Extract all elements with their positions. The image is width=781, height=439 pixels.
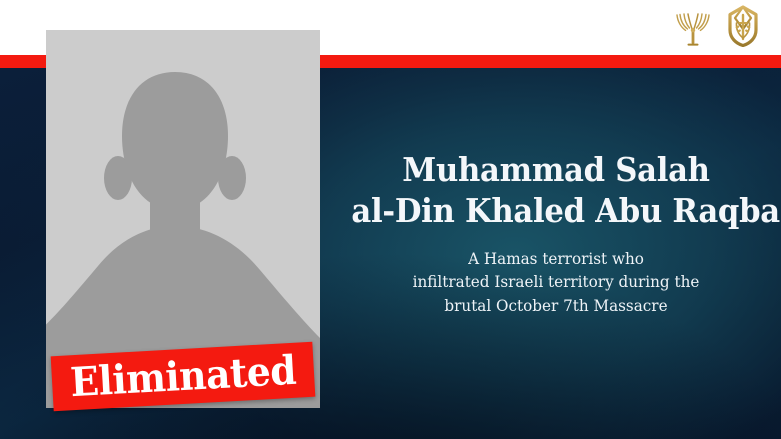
subject-name-line-1: Muhammad Salah (351, 150, 760, 191)
description-line-2: infiltrated Israeli territory during the (347, 270, 765, 293)
header-logos (675, 6, 763, 50)
eliminated-label: Eliminated (69, 350, 297, 403)
idf-spokesperson-broadcast-emblem-icon (675, 6, 711, 50)
description-line-1: A Hamas terrorist who (347, 247, 765, 270)
description-line-3: brutal October 7th Massacre (347, 294, 765, 317)
subject-text-block: Muhammad Salah al-Din Khaled Abu Raqba A… (336, 150, 776, 317)
poster-root: Eliminated Muhammad Salah al-Din Khaled … (0, 0, 781, 439)
subject-description: A Hamas terrorist who infiltrated Israel… (347, 247, 765, 317)
subject-name-line-2: al-Din Khaled Abu Raqba (351, 191, 760, 232)
idf-emblem-icon (723, 5, 763, 51)
